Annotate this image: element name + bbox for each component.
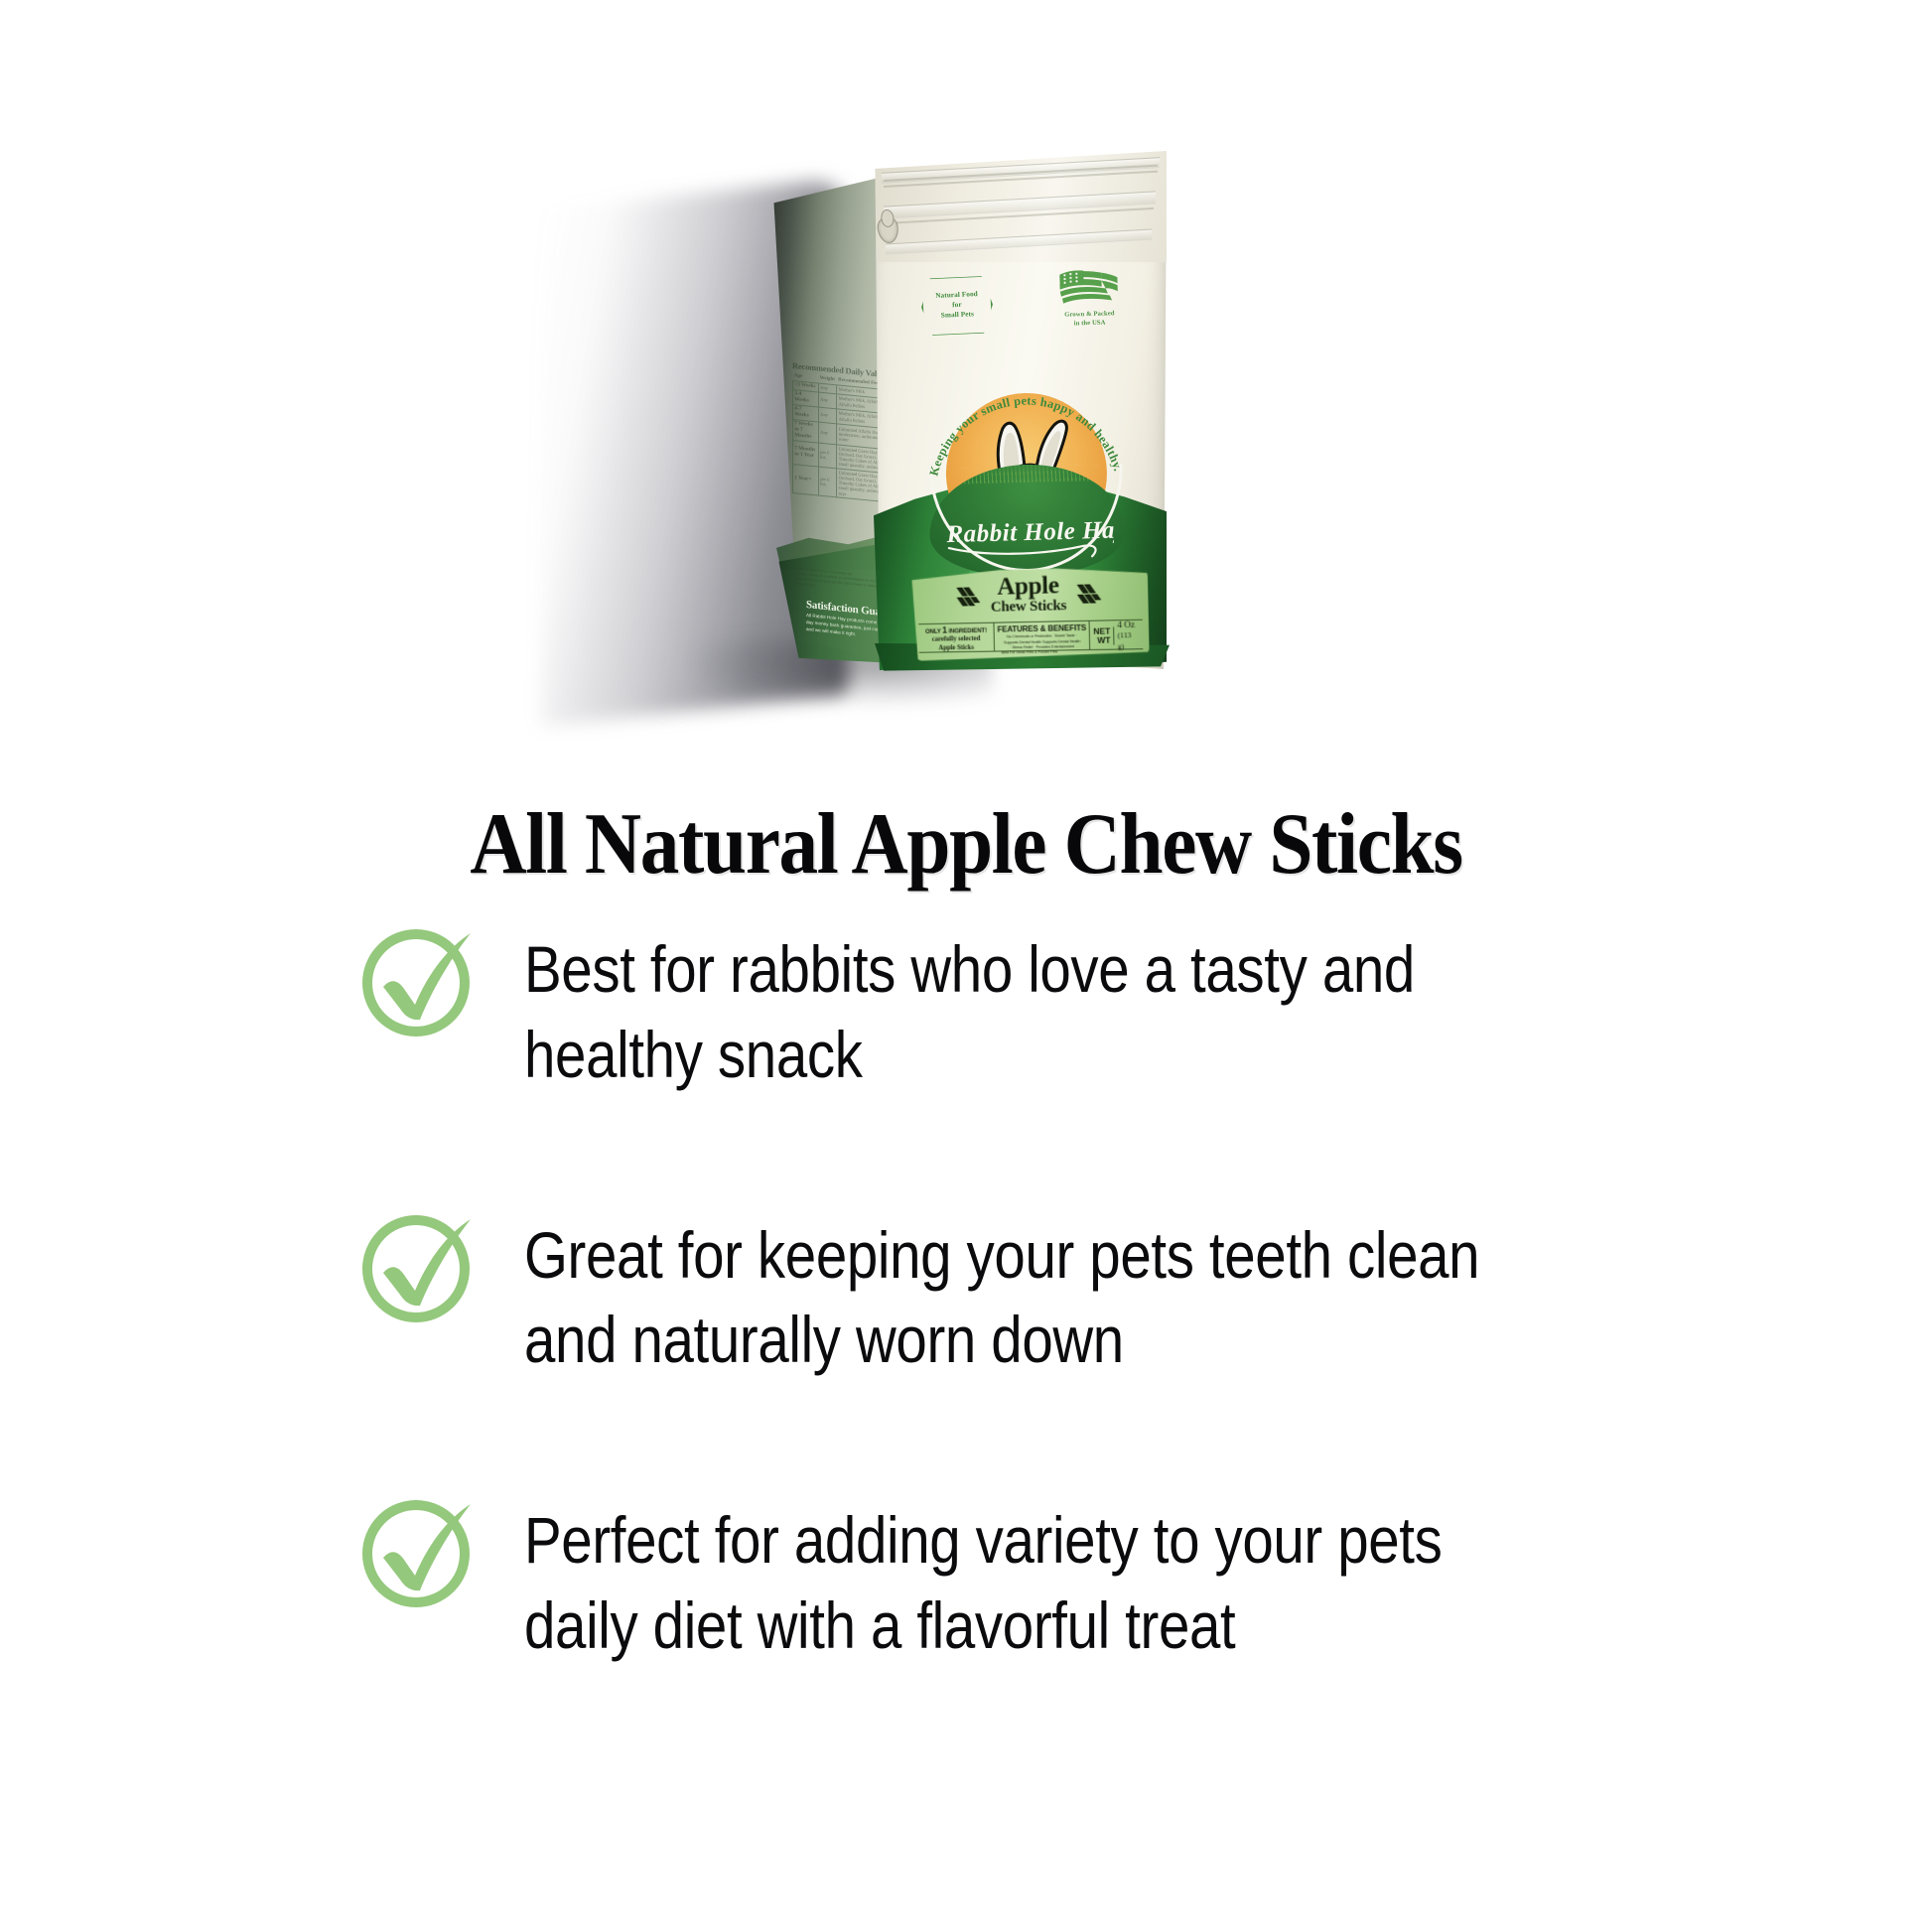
brand-wordmark: Rabbit Hole Hay: [942, 506, 1114, 568]
features-heading: FEATURES & BENEFITS: [997, 622, 1086, 633]
list-item: Great for keeping your pets teeth clean …: [357, 1209, 1678, 1384]
ingredient-suffix: INGREDIENT!: [948, 627, 986, 635]
check-circle-icon: [357, 917, 483, 1042]
triple-chevron-icon: [955, 585, 981, 607]
ingredient-desc-line-1: carefully selected: [921, 635, 991, 644]
cell-weight: Any: [818, 407, 837, 424]
cell-age: 1 Year+: [793, 464, 819, 495]
usa-flag-icon: [1057, 269, 1120, 307]
page-title: All Natural Apple Chew Sticks: [96, 801, 1835, 889]
natural-food-line-2: for: [952, 301, 962, 311]
label-features-column: FEATURES & BENEFITS No Chemicals or Pest…: [993, 621, 1089, 651]
net-wt-value: 4 Oz: [1117, 620, 1140, 630]
list-item: Perfect for adding variety to your pets …: [357, 1494, 1678, 1669]
benefit-text: Perfect for adding variety to your pets …: [524, 1494, 1511, 1669]
check-circle-icon: [357, 1203, 483, 1328]
triple-chevron-icon: [1076, 582, 1103, 605]
product-feature-page: Recommended Daily Values Age Weight Reco…: [0, 0, 1932, 1932]
product-package: Recommended Daily Values Age Weight Reco…: [0, 0, 1932, 735]
cell-weight: per 6 lbs.: [818, 467, 837, 497]
cell-weight: per 6 lbs.: [818, 443, 837, 469]
product-name-line-1: Apple: [990, 573, 1066, 600]
benefit-text: Great for keeping your pets teeth clean …: [524, 1209, 1511, 1384]
cell-weight: Any: [818, 392, 837, 409]
product-hero-image: Recommended Daily Values Age Weight Reco…: [0, 0, 1932, 735]
label-ingredient-column: ONLY 1 INGREDIENT! carefully selected Ap…: [918, 623, 994, 652]
brand-emblem: Keeping your small pets happy and health…: [916, 366, 1136, 586]
benefit-text: Best for rabbits who love a tasty and he…: [524, 923, 1511, 1098]
product-name-line-2: Chew Sticks: [991, 599, 1067, 616]
ingredient-count: 1: [942, 625, 947, 635]
svg-text:Rabbit Hole Hay: Rabbit Hole Hay: [945, 516, 1114, 548]
grown-packed-usa-badge: Grown & Packed in the USA: [1046, 269, 1132, 330]
net-wt-label-2: WT: [1093, 636, 1110, 645]
product-label-plate: Apple Chew Sticks: [911, 565, 1149, 661]
natural-food-line-3: Small Pets: [941, 310, 975, 321]
package-top-seal: [874, 151, 1167, 262]
cell-weight: Any: [818, 422, 837, 445]
natural-food-badge: Natural Food for Small Pets: [920, 274, 995, 337]
cell-age: 7 Weeks to 7 Months: [793, 419, 819, 442]
ingredient-prefix: ONLY: [925, 628, 941, 635]
cell-age: 7 Months to 1 Year: [793, 440, 819, 467]
list-item: Best for rabbits who love a tasty and he…: [357, 923, 1678, 1098]
label-net-weight-column: NET WT 4 Oz (113 g): [1089, 621, 1143, 649]
check-circle-icon: [357, 1488, 483, 1613]
benefits-list: Best for rabbits who love a tasty and he…: [357, 923, 1678, 1669]
